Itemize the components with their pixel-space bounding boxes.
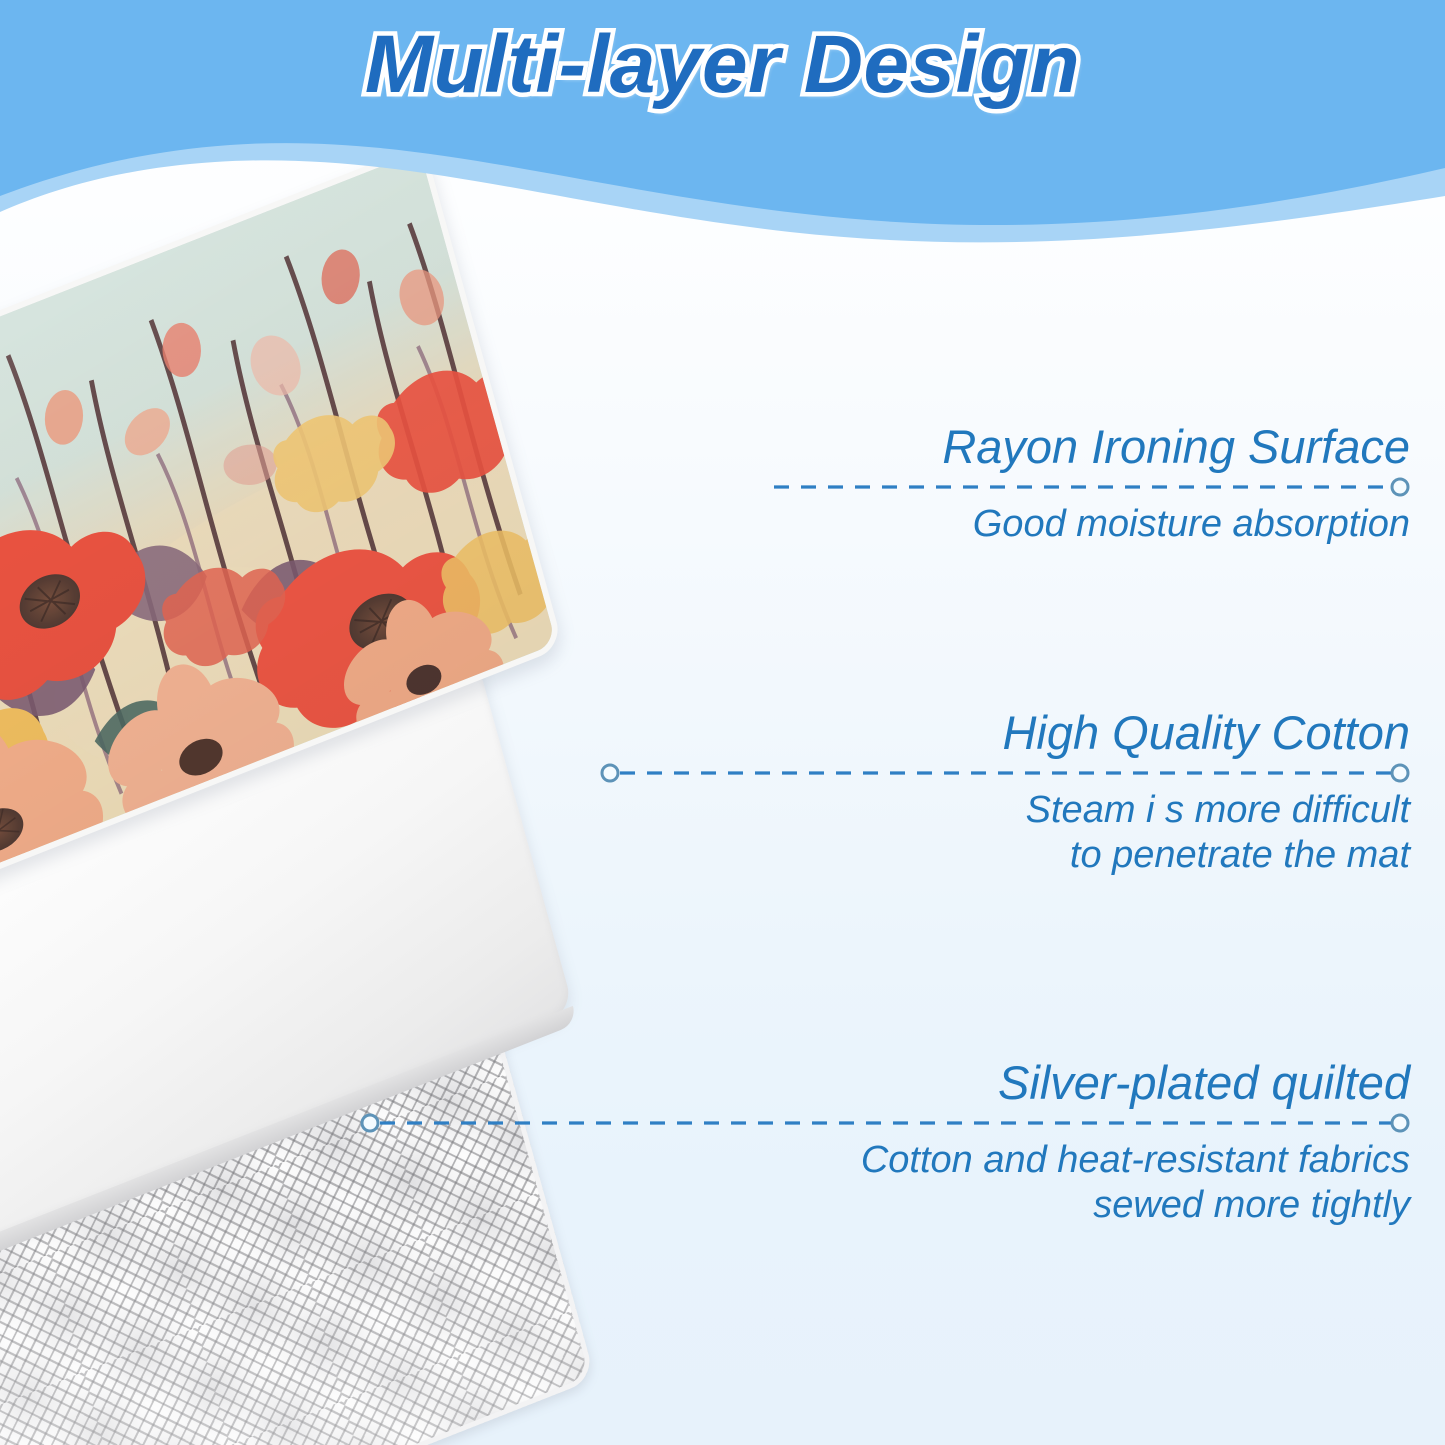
callout-cotton: High Quality Cotton Steam i s more diffi… — [600, 708, 1410, 877]
callout-rayon-subtitle-1: Good moisture absorption — [770, 502, 1410, 547]
callout-quilted-leader — [360, 1108, 1410, 1138]
infographic-canvas: Multi-layer Design Rayon Ironing Surface… — [0, 0, 1445, 1445]
leader-start-dot — [362, 1115, 378, 1131]
callout-cotton-subtitle-2: to penetrate the mat — [600, 833, 1410, 878]
leader-end-dot — [1392, 479, 1408, 495]
callout-cotton-subtitle-1: Steam i s more difficult — [600, 788, 1410, 833]
leader-start-dot — [602, 765, 618, 781]
leader-end-dot — [1392, 1115, 1408, 1131]
callout-group: Rayon Ironing Surface Good moisture abso… — [0, 0, 1445, 1445]
leader-end-dot — [1392, 765, 1408, 781]
callout-rayon-title: Rayon Ironing Surface — [770, 422, 1410, 472]
callout-cotton-title: High Quality Cotton — [600, 708, 1410, 758]
callout-quilted-subtitle-2: sewed more tightly — [360, 1183, 1410, 1228]
callout-rayon: Rayon Ironing Surface Good moisture abso… — [770, 422, 1410, 547]
callout-quilted: Silver-plated quilted Cotton and heat-re… — [360, 1058, 1410, 1227]
callout-rayon-leader — [770, 472, 1410, 502]
callout-quilted-title: Silver-plated quilted — [360, 1058, 1410, 1108]
callout-quilted-subtitle-1: Cotton and heat-resistant fabrics — [360, 1138, 1410, 1183]
callout-cotton-leader — [600, 758, 1410, 788]
